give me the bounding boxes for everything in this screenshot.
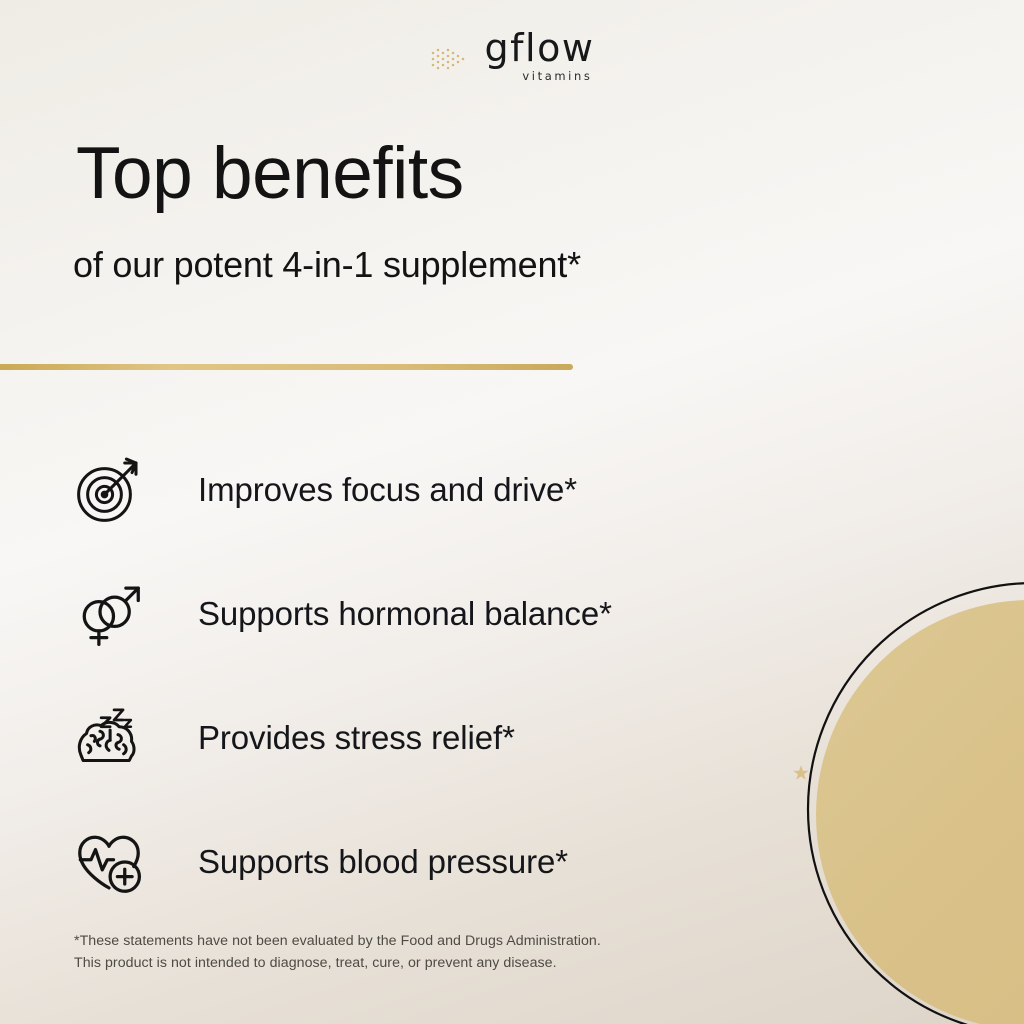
dotted-chevron-mark-icon xyxy=(430,43,472,75)
disclaimer-line-1: *These statements have not been evaluate… xyxy=(74,930,601,952)
gender-symbols-icon xyxy=(70,575,148,653)
heart-pulse-plus-icon xyxy=(70,823,148,901)
list-item: Improves focus and drive* xyxy=(70,428,830,552)
list-item-label: Supports blood pressure* xyxy=(198,843,568,881)
page-subtitle: of our potent 4-in-1 supplement* xyxy=(73,243,581,286)
poster-canvas: gflow vitamins Top benefits of our poten… xyxy=(0,0,1024,1024)
disclaimer: *These statements have not been evaluate… xyxy=(74,930,601,974)
brand-tagline: vitamins xyxy=(522,69,592,83)
list-item-label: Provides stress relief* xyxy=(198,719,515,757)
list-item-label: Improves focus and drive* xyxy=(198,471,577,509)
page-title: Top benefits xyxy=(76,137,464,210)
wordmark: gflow xyxy=(485,30,595,66)
disclaimer-line-2: This product is not intended to diagnose… xyxy=(74,952,601,974)
brand-logo: gflow vitamins xyxy=(0,30,1024,83)
sleeping-brain-icon xyxy=(70,699,148,777)
benefits-list: Improves focus and drive* Supports hormo… xyxy=(70,428,830,924)
list-item: Supports hormonal balance* xyxy=(70,552,830,676)
gold-divider xyxy=(0,364,573,370)
list-item: Supports blood pressure* xyxy=(70,800,830,924)
list-item: Provides stress relief* xyxy=(70,676,830,800)
gold-circle-decoration xyxy=(816,600,1024,1024)
list-item-label: Supports hormonal balance* xyxy=(198,595,612,633)
target-arrow-icon xyxy=(70,451,148,529)
